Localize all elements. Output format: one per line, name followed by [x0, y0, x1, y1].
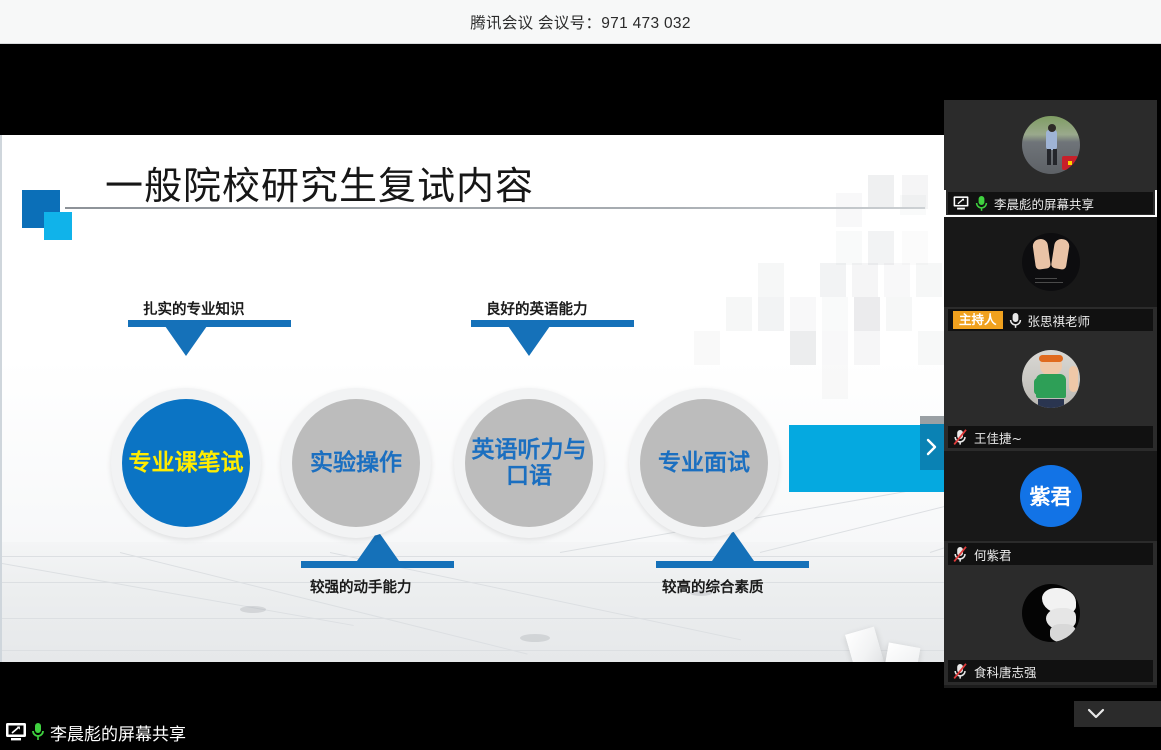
participant-name-bar: 食科唐志强	[948, 660, 1153, 682]
avatar	[1022, 116, 1080, 174]
circle-label-4: 专业面试	[640, 399, 768, 527]
participant-name-bar: 主持人张思祺老师	[948, 309, 1153, 331]
mosaic-square	[820, 263, 846, 297]
circle-label-1: 专业课笔试	[122, 399, 250, 527]
circle-label-3-line1: 英语听力与	[472, 437, 587, 463]
participant-name: 食科唐志强	[974, 662, 1037, 681]
topic-circle-1[interactable]: 专业课笔试	[111, 388, 261, 538]
mosaic-square	[886, 297, 912, 331]
chevron-right-icon	[926, 438, 938, 456]
circle-label-3: 英语听力与 口语	[465, 399, 593, 527]
floor-shadow-spot	[520, 634, 550, 642]
screen-share-icon	[953, 196, 969, 210]
participant-name: 何紫君	[974, 545, 1012, 564]
callout-bottom-label-1: 较强的动手能力	[310, 576, 412, 597]
callout-bottom-label-2: 较高的综合素质	[662, 576, 764, 597]
callout-top-arrow-2	[508, 326, 550, 356]
mosaic-square	[822, 331, 848, 365]
slide-title: 一般院校研究生复试内容	[105, 155, 534, 210]
mic-on-icon	[31, 722, 45, 742]
avatar	[1022, 233, 1080, 291]
participant-video	[944, 334, 1157, 424]
presentation-slide[interactable]: 一般院校研究生复试内容 扎实的专业知识 良好的英语能力 较强的动手能力 较高的综…	[0, 135, 944, 662]
mosaic-square	[900, 195, 926, 215]
mosaic-square	[854, 297, 880, 331]
slide-floor-perspective	[0, 542, 944, 662]
meeting-stage: 一般院校研究生复试内容 扎实的专业知识 良好的英语能力 较强的动手能力 较高的综…	[0, 44, 1161, 750]
callout-bottom-bar-2	[656, 561, 809, 568]
callout-top-label-1: 扎实的专业知识	[143, 298, 245, 319]
participant-tile[interactable]: 紫君何紫君	[944, 451, 1157, 568]
mosaic-square	[918, 331, 944, 365]
participant-tile[interactable]: 王佳捷~	[944, 334, 1157, 451]
slide-logo-square-light	[44, 212, 72, 240]
meeting-title-bar: 腾讯会议 会议号：971 473 032	[0, 0, 1161, 44]
mosaic-square	[790, 331, 816, 365]
mosaic-square	[902, 231, 928, 265]
participant-video	[944, 100, 1157, 190]
mosaic-square	[836, 231, 862, 265]
mosaic-square	[726, 297, 752, 331]
participant-name-bar: 李晨彪的屏幕共享	[948, 192, 1153, 214]
topic-circle-3[interactable]: 英语听力与 口语	[454, 388, 604, 538]
mic-muted-icon	[953, 429, 968, 446]
participant-video	[944, 217, 1157, 307]
mic-on-icon	[975, 195, 988, 212]
mosaic-square	[790, 297, 816, 331]
topic-circle-4[interactable]: 专业面试	[629, 388, 779, 538]
callout-top-bar-2	[471, 320, 634, 327]
participant-name-bar: 何紫君	[948, 543, 1153, 565]
host-badge: 主持人	[953, 311, 1003, 329]
participant-name: 张思祺老师	[1028, 311, 1091, 330]
mosaic-square	[694, 331, 720, 365]
mosaic-square	[854, 331, 880, 365]
participant-name: 李晨彪的屏幕共享	[994, 194, 1094, 213]
callout-bottom-bar-1	[301, 561, 454, 568]
callout-top-arrow-1	[165, 326, 207, 356]
participant-name: 王佳捷~	[974, 428, 1022, 447]
floor-horizontal-line	[0, 650, 944, 651]
slide-left-rule	[0, 135, 2, 662]
meeting-title-text: 腾讯会议 会议号：971 473 032	[470, 11, 691, 33]
mic-muted-icon	[953, 663, 968, 680]
avatar-initials: 紫君	[1030, 481, 1072, 511]
shared-screen-area[interactable]: 一般院校研究生复试内容 扎实的专业知识 良好的英语能力 较强的动手能力 较高的综…	[0, 44, 944, 714]
chevron-down-icon	[1087, 708, 1105, 720]
screen-share-banner-text: 李晨彪的屏幕共享	[50, 720, 186, 745]
mosaic-square	[758, 297, 784, 331]
floor-horizontal-line	[0, 618, 944, 619]
avatar: 紫君	[1020, 465, 1082, 527]
mosaic-square	[852, 263, 878, 297]
avatar	[1022, 584, 1080, 642]
participant-name-bar: 王佳捷~	[948, 426, 1153, 448]
floor-shadow-spot	[240, 606, 266, 613]
mosaic-square	[822, 297, 848, 331]
callout-top-bar-1	[128, 320, 291, 327]
callout-top-label-2: 良好的英语能力	[486, 298, 588, 319]
next-slide-button[interactable]	[920, 424, 944, 470]
mosaic-square	[822, 365, 848, 399]
mosaic-square	[884, 263, 910, 297]
panel-collapse-button[interactable]	[1074, 701, 1118, 727]
participant-tile[interactable]: 主持人张思祺老师	[944, 217, 1157, 334]
participant-video: 紫君	[944, 451, 1157, 541]
mosaic-square	[868, 231, 894, 265]
circle-label-2: 实验操作	[292, 399, 420, 527]
mosaic-square	[758, 263, 784, 297]
next-slide-button-cap	[920, 416, 944, 424]
mosaic-square	[836, 193, 862, 227]
participant-video	[944, 568, 1157, 658]
screen-share-banner: 李晨彪的屏幕共享	[0, 714, 944, 750]
participant-tile[interactable]: 食科唐志强	[944, 568, 1157, 685]
circle-label-3-line2: 口语	[506, 463, 552, 489]
participant-tile[interactable]: 李晨彪的屏幕共享	[944, 100, 1157, 217]
participant-panel[interactable]: 李晨彪的屏幕共享主持人张思祺老师王佳捷~紫君何紫君食科唐志强	[944, 100, 1157, 688]
topic-circle-2[interactable]: 实验操作	[281, 388, 431, 538]
mic-on-icon	[1009, 312, 1022, 329]
mosaic-square	[916, 263, 942, 297]
avatar	[1022, 350, 1080, 408]
mic-muted-icon	[953, 546, 968, 563]
slide-title-underline	[65, 207, 925, 209]
mosaic-square	[868, 175, 894, 209]
screen-share-icon	[6, 723, 26, 741]
